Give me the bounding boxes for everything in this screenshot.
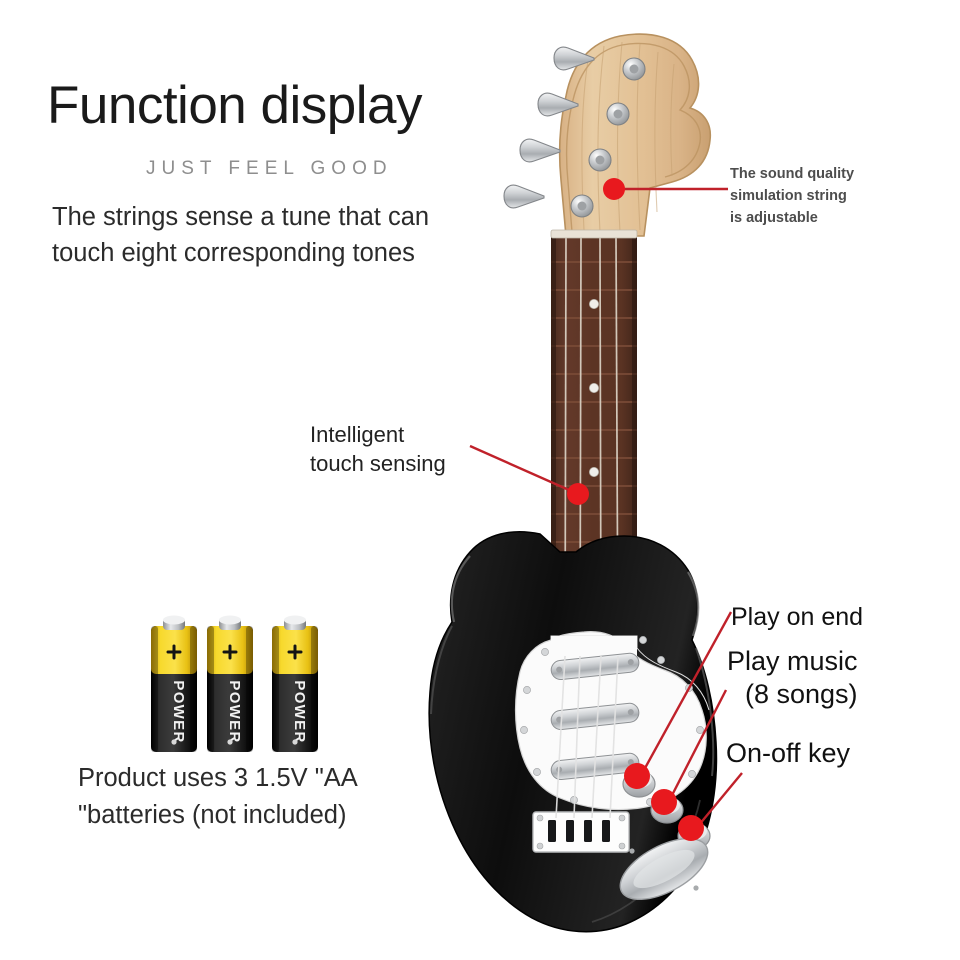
battery-item: POWER — [272, 616, 318, 753]
guitar-bridge — [533, 812, 629, 852]
battery-caption: Product uses 3 1.5V "AA "batteries (not … — [78, 760, 428, 834]
callout-sound-quality-label: The sound quality simulation string is a… — [730, 163, 930, 229]
callout-sound-quality-line1: The sound quality — [730, 163, 930, 185]
callout-sound-quality-line3: is adjustable — [730, 207, 930, 229]
page-subtitle: JUST FEEL GOOD — [146, 158, 393, 180]
callout-play-music-line2: (8 songs) — [727, 678, 858, 711]
callout-play-music-label: Play music (8 songs) — [727, 645, 858, 711]
page-title: Function display — [47, 78, 422, 134]
svg-text:POWER: POWER — [226, 680, 243, 743]
callout-touch-sensing-label: Intelligent touch sensing — [310, 420, 446, 479]
svg-text:POWER: POWER — [291, 680, 308, 743]
lead-paragraph: The strings sense a tune that can touch … — [52, 199, 452, 271]
guitar-body — [429, 532, 717, 932]
battery-caption-line2: "batteries (not included) — [78, 797, 428, 834]
marker-sound-quality — [603, 178, 625, 200]
svg-text:POWER: POWER — [170, 680, 187, 743]
callout-play-music-line1: Play music — [727, 646, 858, 676]
infographic-canvas: POWER POWER — [0, 0, 960, 960]
callout-touch-sensing-line2: touch sensing — [310, 449, 446, 478]
battery-item: POWER — [151, 616, 197, 753]
guitar-headstock — [504, 34, 710, 238]
marker-touch-sensing — [567, 483, 589, 505]
marker-play-on-end — [624, 763, 650, 789]
callout-play-on-end-label: Play on end — [731, 603, 863, 632]
callout-sound-quality-line2: simulation string — [730, 185, 930, 207]
battery-item: POWER — [207, 616, 253, 753]
marker-play-music — [651, 789, 677, 815]
battery-caption-line1: Product uses 3 1.5V "AA — [78, 760, 428, 797]
battery-group: POWER POWER — [151, 616, 318, 753]
callout-touch-sensing-line1: Intelligent — [310, 420, 446, 449]
callout-on-off-key-label: On-off key — [726, 738, 850, 769]
marker-on-off-key — [678, 815, 704, 841]
